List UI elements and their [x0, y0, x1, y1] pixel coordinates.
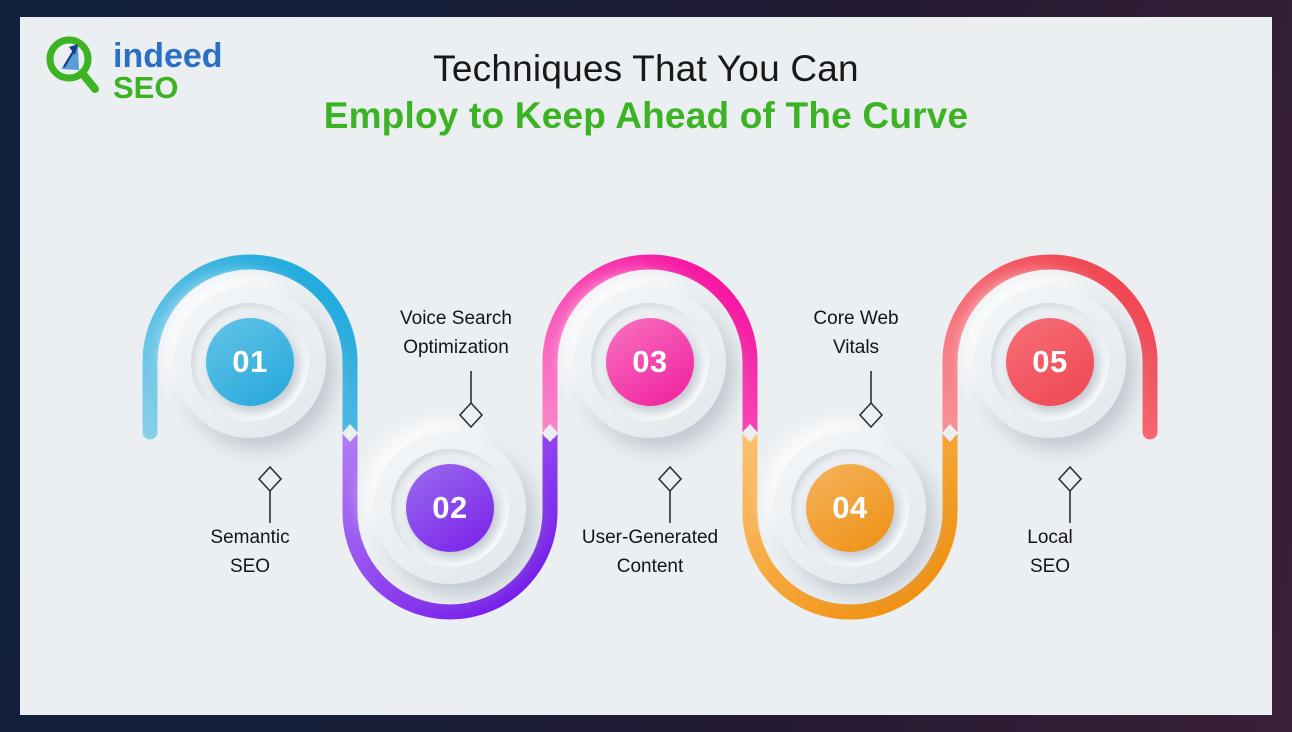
step-caption-2-line1: Voice Search	[400, 308, 512, 329]
step-caption-2: Voice Search Optimization	[351, 305, 561, 363]
step-caption-1: Semantic SEO	[145, 524, 355, 582]
step-caption-1-line1: Semantic	[210, 527, 289, 548]
infographic-frame: indeed SEO Techniques That You Can Emplo…	[20, 17, 1272, 715]
step-node-4-ring: 04	[791, 449, 909, 567]
step-node-3-ring: 03	[591, 303, 709, 421]
step-node-2[interactable]: 02	[374, 432, 526, 584]
step-caption-5-line1: Local	[1027, 527, 1072, 548]
step-node-5[interactable]: 05	[974, 286, 1126, 438]
step-caption-4: Core Web Vitals	[751, 305, 961, 363]
step-caption-4-line1: Core Web	[813, 308, 898, 329]
step-badge-3: 03	[606, 318, 694, 406]
step-node-1-ring: 01	[191, 303, 309, 421]
step-caption-2-line2: Optimization	[403, 337, 509, 358]
step-caption-3: User-Generated Content	[545, 524, 755, 582]
process-diagram: 01 Semantic SEO 02 Voice Search Optimiza…	[20, 17, 1272, 715]
step-caption-3-line2: Content	[617, 556, 684, 577]
step-caption-5-line2: SEO	[1030, 556, 1070, 577]
step-caption-4-line2: Vitals	[833, 337, 879, 358]
step-caption-3-line1: User-Generated	[582, 527, 718, 548]
step-node-3[interactable]: 03	[574, 286, 726, 438]
step-caption-1-line2: SEO	[230, 556, 270, 577]
step-caption-5: Local SEO	[945, 524, 1155, 582]
step-badge-5: 05	[1006, 318, 1094, 406]
step-badge-1: 01	[206, 318, 294, 406]
step-node-2-ring: 02	[391, 449, 509, 567]
step-badge-4: 04	[806, 464, 894, 552]
step-node-5-ring: 05	[991, 303, 1109, 421]
step-node-4[interactable]: 04	[774, 432, 926, 584]
step-node-1[interactable]: 01	[174, 286, 326, 438]
step-badge-2: 02	[406, 464, 494, 552]
